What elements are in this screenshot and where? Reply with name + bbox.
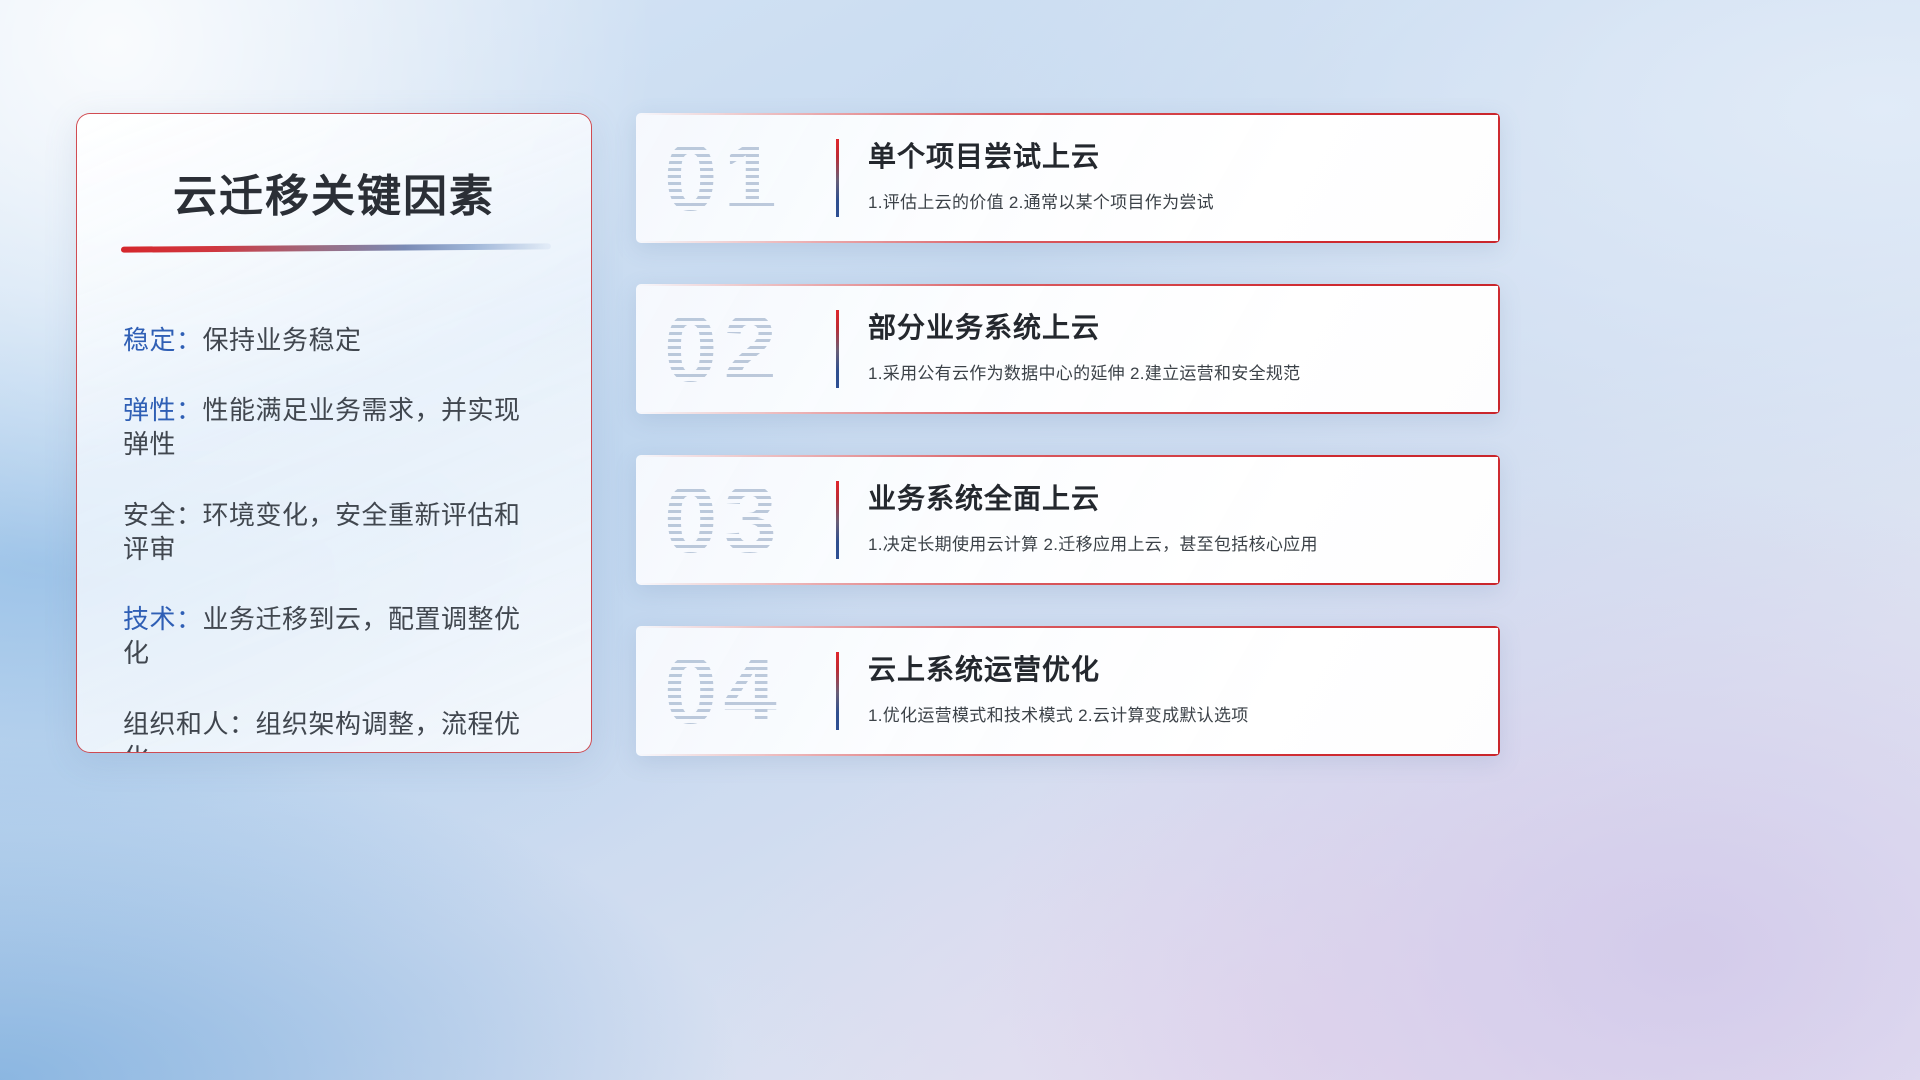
stage-number-watermark: 04 <box>664 639 864 743</box>
card-right-border <box>1498 626 1500 756</box>
stage-title: 部分业务系统上云 <box>868 311 1476 344</box>
stage-title: 云上系统运营优化 <box>868 653 1476 686</box>
accent-bar <box>836 481 839 559</box>
factor-label: 组织和人： <box>123 709 256 739</box>
stage-description: 1.优化运营模式和技术模式 2.云计算变成默认选项 <box>868 701 1476 726</box>
stage-number-watermark: 01 <box>664 126 864 230</box>
accent-bar <box>836 652 839 730</box>
list-item: 弹性：性能满足业务需求，并实现弹性 <box>123 393 545 462</box>
stage-card-04[interactable]: 04 云上系统运营优化 1.优化运营模式和技术模式 2.云计算变成默认选项 <box>636 626 1500 756</box>
accent-bar <box>836 310 839 388</box>
card-top-border <box>636 455 1500 457</box>
card-top-border <box>636 113 1500 115</box>
factor-label: 安全： <box>123 500 203 530</box>
factor-label: 弹性： <box>123 395 203 425</box>
title-underline-rule <box>121 243 551 252</box>
card-bottom-border <box>636 412 1500 414</box>
stage-card-01[interactable]: 01 单个项目尝试上云 1.评估上云的价值 2.通常以某个项目作为尝试 <box>636 113 1500 243</box>
card-right-border <box>1498 455 1500 585</box>
card-right-border <box>1498 284 1500 414</box>
stage-title: 单个项目尝试上云 <box>868 140 1476 173</box>
stage-description: 1.决定长期使用云计算 2.迁移应用上云，甚至包括核心应用 <box>868 530 1476 555</box>
key-factors-list: 稳定：保持业务稳定 弹性：性能满足业务需求，并实现弹性 安全：环境变化，安全重新… <box>121 323 547 753</box>
page-title: 云迁移关键因素 <box>121 172 547 223</box>
migration-stages-list: 01 单个项目尝试上云 1.评估上云的价值 2.通常以某个项目作为尝试 02 部… <box>636 113 1500 756</box>
card-bottom-border <box>636 754 1500 756</box>
accent-bar <box>836 139 839 217</box>
factor-label: 技术： <box>123 604 203 634</box>
list-item: 稳定：保持业务稳定 <box>123 323 545 357</box>
card-top-border <box>636 284 1500 286</box>
stage-title: 业务系统全面上云 <box>868 482 1476 515</box>
card-bottom-border <box>636 583 1500 585</box>
card-bottom-border <box>636 241 1500 243</box>
factor-text: 保持业务稳定 <box>203 325 362 355</box>
factor-label: 稳定： <box>123 325 203 355</box>
list-item: 技术：业务迁移到云，配置调整优化 <box>123 602 545 671</box>
stage-description: 1.采用公有云作为数据中心的延伸 2.建立运营和安全规范 <box>868 359 1476 384</box>
list-item: 安全：环境变化，安全重新评估和评审 <box>123 498 545 567</box>
list-item: 组织和人：组织架构调整，流程优化， 人员技能培训 <box>123 707 545 753</box>
stage-card-02[interactable]: 02 部分业务系统上云 1.采用公有云作为数据中心的延伸 2.建立运营和安全规范 <box>636 284 1500 414</box>
stage-card-03[interactable]: 03 业务系统全面上云 1.决定长期使用云计算 2.迁移应用上云，甚至包括核心应… <box>636 455 1500 585</box>
key-factors-panel: 云迁移关键因素 稳定：保持业务稳定 弹性：性能满足业务需求，并实现弹性 安全：环… <box>76 113 592 753</box>
card-top-border <box>636 626 1500 628</box>
card-right-border <box>1498 113 1500 243</box>
stage-number-watermark: 03 <box>664 468 864 572</box>
stage-number-watermark: 02 <box>664 297 864 401</box>
stage-description: 1.评估上云的价值 2.通常以某个项目作为尝试 <box>868 188 1476 213</box>
slide-canvas: 云迁移关键因素 稳定：保持业务稳定 弹性：性能满足业务需求，并实现弹性 安全：环… <box>0 0 1920 1080</box>
